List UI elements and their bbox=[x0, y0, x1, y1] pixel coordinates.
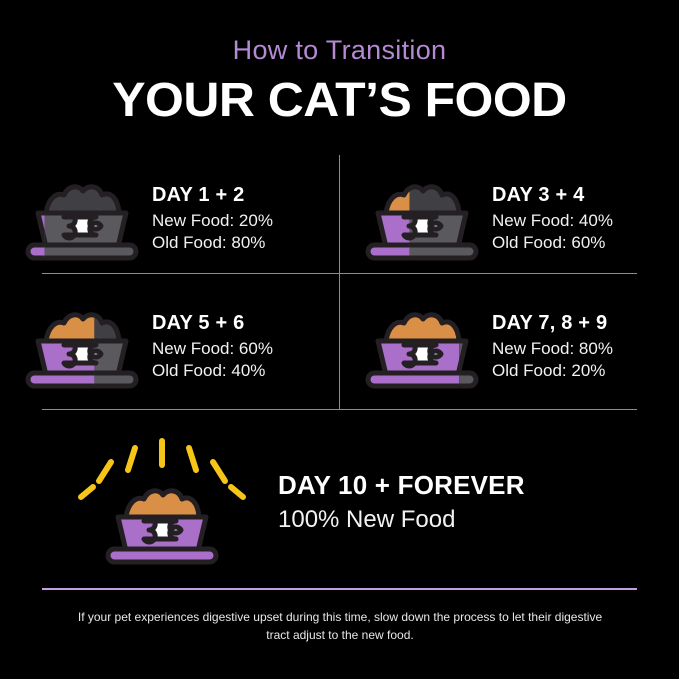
food-bowl-icon bbox=[360, 305, 484, 389]
divider-horizontal-3 bbox=[42, 588, 637, 590]
footer-note: If your pet experiences digestive upset … bbox=[70, 608, 610, 644]
bone-icon bbox=[64, 342, 101, 366]
step-day-label: DAY 3 + 4 bbox=[492, 183, 613, 207]
final-day-label: DAY 10 + FOREVER bbox=[278, 470, 525, 501]
food-bowl-icon-full bbox=[75, 435, 250, 570]
final-step-text: DAY 10 + FOREVER 100% New Food bbox=[278, 470, 525, 535]
step-card-day-5-6: DAY 5 + 6 New Food: 60% Old Food: 40% bbox=[0, 283, 339, 410]
step-new-food: New Food: 20% bbox=[152, 210, 273, 232]
step-old-food: Old Food: 80% bbox=[152, 232, 273, 254]
step-old-food: Old Food: 40% bbox=[152, 360, 273, 382]
step-text-3: DAY 5 + 6 New Food: 60% Old Food: 40% bbox=[152, 311, 273, 383]
step-card-day-1-2: DAY 1 + 2 New Food: 20% Old Food: 80% bbox=[0, 155, 339, 282]
step-old-food: Old Food: 20% bbox=[492, 360, 613, 382]
bone-icon bbox=[404, 214, 441, 238]
step-card-day-3-4: DAY 3 + 4 New Food: 40% Old Food: 60% bbox=[340, 155, 679, 282]
step-new-food: New Food: 60% bbox=[152, 338, 273, 360]
step-day-label: DAY 1 + 2 bbox=[152, 183, 273, 207]
bone-icon bbox=[404, 342, 441, 366]
header: How to Transition YOUR CAT’S FOOD bbox=[0, 0, 679, 126]
transition-steps-grid: DAY 1 + 2 New Food: 20% Old Food: 80% bbox=[0, 155, 679, 410]
step-text-2: DAY 3 + 4 New Food: 40% Old Food: 60% bbox=[492, 183, 613, 255]
bone-icon bbox=[144, 518, 181, 542]
starburst-icon bbox=[81, 441, 243, 497]
bowl-icon-wrap-3 bbox=[16, 305, 148, 389]
final-subtitle: 100% New Food bbox=[278, 506, 525, 535]
final-bowl-wrap bbox=[55, 435, 270, 570]
bowl-icon-wrap-4 bbox=[356, 305, 488, 389]
step-new-food: New Food: 80% bbox=[492, 338, 613, 360]
step-day-label: DAY 7, 8 + 9 bbox=[492, 311, 613, 335]
bone-icon bbox=[64, 214, 101, 238]
food-bowl-icon bbox=[20, 177, 144, 261]
food-bowl-icon bbox=[20, 305, 144, 389]
kicker-text: How to Transition bbox=[0, 36, 679, 66]
step-day-label: DAY 5 + 6 bbox=[152, 311, 273, 335]
bowl-icon-wrap-2 bbox=[356, 177, 488, 261]
step-text-4: DAY 7, 8 + 9 New Food: 80% Old Food: 20% bbox=[492, 311, 613, 383]
step-card-day-7-8-9: DAY 7, 8 + 9 New Food: 80% Old Food: 20% bbox=[340, 283, 679, 410]
bowl-icon-wrap-1 bbox=[16, 177, 148, 261]
page-title: YOUR CAT’S FOOD bbox=[0, 76, 679, 126]
infographic-root: How to Transition YOUR CAT’S FOOD bbox=[0, 0, 679, 679]
step-new-food: New Food: 40% bbox=[492, 210, 613, 232]
food-bowl-icon bbox=[360, 177, 484, 261]
final-step-row: DAY 10 + FOREVER 100% New Food bbox=[0, 420, 679, 585]
step-text-1: DAY 1 + 2 New Food: 20% Old Food: 80% bbox=[152, 183, 273, 255]
step-old-food: Old Food: 60% bbox=[492, 232, 613, 254]
